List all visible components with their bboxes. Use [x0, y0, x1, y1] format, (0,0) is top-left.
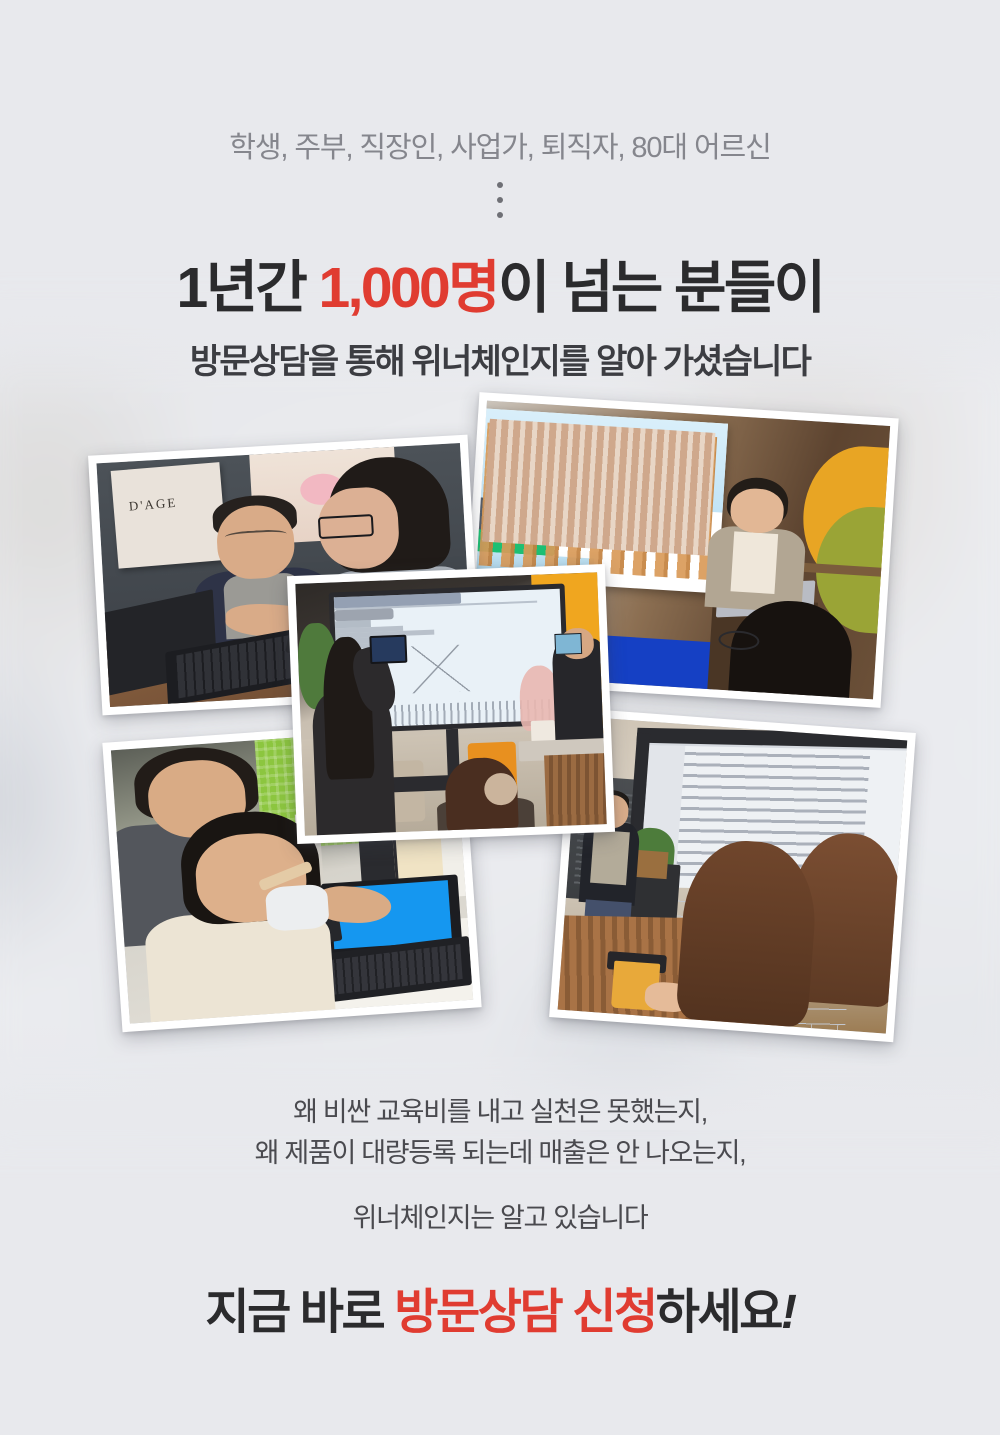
cta-exclamation: ! — [781, 1286, 795, 1339]
photo-seminar-chart-image — [295, 572, 606, 835]
cta-post: 하세요 — [656, 1286, 781, 1339]
body-copy-line-2: 왜 제품이 대량등록 되는데 매출은 안 나오는지, — [0, 1133, 1000, 1174]
landing-page: 학생, 주부, 직장인, 사업가, 퇴직자, 80대 어르신 1년간 1,000… — [0, 0, 1000, 1435]
ellipsis-dot — [497, 182, 503, 188]
cta-headline[interactable]: 지금 바로 방문상담 신청하세요! — [0, 1272, 1000, 1342]
ellipsis-dot — [497, 212, 503, 218]
body-copy-line-3: 위너체인지는 알고 있습니다 — [0, 1198, 1000, 1239]
cta-pre: 지금 바로 — [205, 1286, 394, 1339]
hero-subheadline: 방문상담을 통해 위너체인지를 알아 가셨습니다 — [0, 334, 1000, 383]
body-copy: 왜 비싼 교육비를 내고 실천은 못했는지, 왜 제품이 대량등록 되는데 매출… — [0, 1092, 1000, 1239]
body-copy-line-1: 왜 비싼 교육비를 내고 실천은 못했는지, — [0, 1092, 1000, 1133]
hero-headline: 1년간 1,000명이 넘는 분들이 — [0, 242, 1000, 324]
body-copy-spacer — [0, 1174, 1000, 1198]
headline-pre: 1년간 — [176, 256, 318, 320]
headline-post: 이 넘는 분들이 — [498, 256, 824, 320]
photo-collage — [0, 390, 1000, 1070]
photo-seminar-chart — [287, 564, 615, 844]
hero-kicker: 학생, 주부, 직장인, 사업가, 퇴직자, 80대 어르신 — [0, 124, 1000, 166]
ellipsis-dot — [497, 197, 503, 203]
vertical-ellipsis-icon — [0, 182, 1000, 218]
headline-highlight: 1,000명 — [319, 256, 498, 320]
cta-highlight: 방문상담 신청 — [394, 1286, 656, 1339]
